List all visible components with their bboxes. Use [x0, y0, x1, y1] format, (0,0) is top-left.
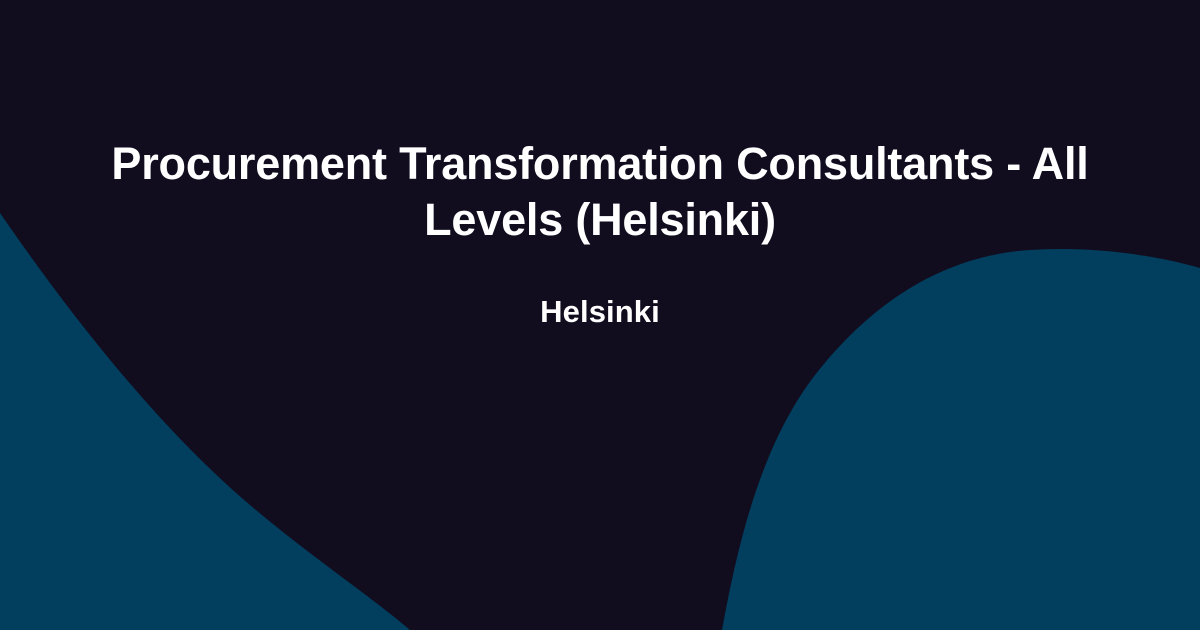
social-share-card: Procurement Transformation Consultants -… — [0, 0, 1200, 630]
card-content: Procurement Transformation Consultants -… — [0, 0, 1200, 630]
page-title: Procurement Transformation Consultants -… — [95, 136, 1105, 248]
location-subtitle: Helsinki — [540, 248, 660, 332]
